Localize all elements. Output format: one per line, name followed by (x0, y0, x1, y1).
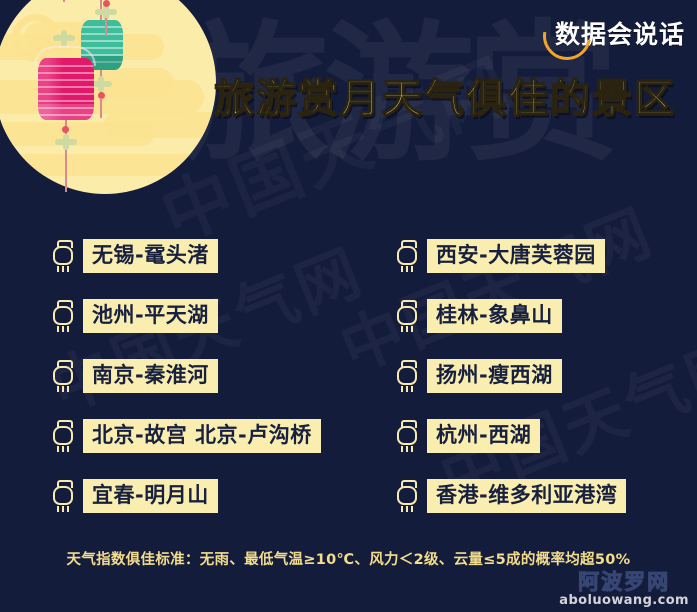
spot-label: 池州-平天湖 (83, 299, 218, 333)
lantern-icon (396, 480, 418, 512)
spot-label: 杭州-西湖 (427, 419, 540, 453)
brand-logo: 数据会说话 (545, 10, 685, 56)
lantern-body-pink (38, 58, 94, 120)
poster-canvas: 中国天气网 中国天气网 中国天气网 中国天气网 旅游赏 (0, 0, 697, 612)
lantern-icon (396, 300, 418, 332)
list-item[interactable]: 桂林-象鼻山 (348, 286, 696, 346)
lantern-icon (52, 240, 74, 272)
list-item[interactable]: 池州-平天湖 (0, 286, 348, 346)
scenic-spot-list: 无锡-鼋头渚 西安-大唐芙蓉园 (0, 226, 697, 526)
list-item[interactable]: 南京-秦淮河 (0, 346, 348, 406)
site-watermark-en: aboluowang.com (559, 593, 689, 608)
spot-label: 桂林-象鼻山 (427, 299, 562, 333)
site-watermark: 阿波罗网 aboluowang.com (559, 566, 689, 608)
spot-label: 北京-故宫 北京-卢沟桥 (83, 419, 321, 453)
lantern-icon (396, 420, 418, 452)
list-row: 无锡-鼋头渚 西安-大唐芙蓉园 (0, 226, 697, 286)
spot-label: 香港-维多利亚港湾 (427, 479, 626, 513)
spot-label: 西安-大唐芙蓉园 (427, 239, 605, 273)
lantern-icon (52, 420, 74, 452)
list-item[interactable]: 香港-维多利亚港湾 (348, 466, 696, 526)
list-row: 池州-平天湖 桂林-象鼻山 (0, 286, 697, 346)
list-row: 北京-故宫 北京-卢沟桥 杭州-西湖 (0, 406, 697, 466)
lantern-icon (52, 480, 74, 512)
spot-label: 南京-秦淮河 (83, 359, 218, 393)
list-item[interactable]: 北京-故宫 北京-卢沟桥 (0, 406, 348, 466)
list-row: 宜春-明月山 香港-维多利亚港湾 (0, 466, 697, 526)
spot-label: 无锡-鼋头渚 (83, 239, 218, 273)
lantern-icon (396, 360, 418, 392)
list-item[interactable]: 无锡-鼋头渚 (0, 226, 348, 286)
spot-label: 宜春-明月山 (83, 479, 218, 513)
cloud-shape (104, 112, 216, 138)
list-item[interactable]: 扬州-瘦西湖 (348, 346, 696, 406)
lantern-icon (52, 360, 74, 392)
list-item[interactable]: 西安-大唐芙蓉园 (348, 226, 696, 286)
site-watermark-cn: 阿波罗网 (559, 566, 689, 596)
lantern-icon (396, 240, 418, 272)
logo-arc-icon (534, 3, 601, 70)
page-title: 旅游赏月天气俱佳的景区 (214, 66, 676, 124)
list-row: 南京-秦淮河 扬州-瘦西湖 (0, 346, 697, 406)
cloud-shape (14, 154, 204, 176)
list-item[interactable]: 杭州-西湖 (348, 406, 696, 466)
list-item[interactable]: 宜春-明月山 (0, 466, 348, 526)
spot-label: 扬州-瘦西湖 (427, 359, 562, 393)
lantern-icon (52, 300, 74, 332)
